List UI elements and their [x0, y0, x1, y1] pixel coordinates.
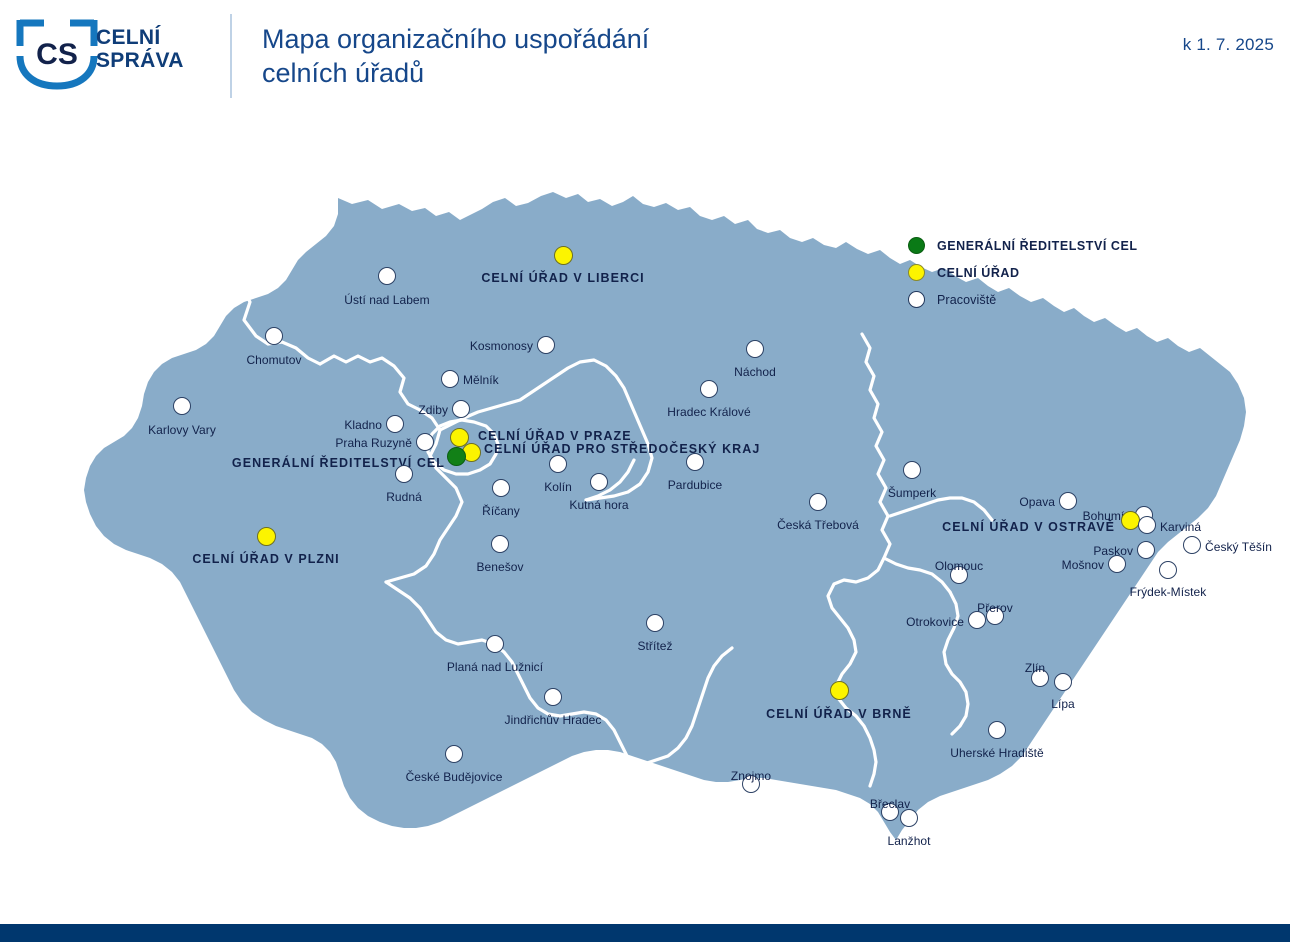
legend-item-celni-urad: CELNÍ ÚŘAD	[908, 259, 1208, 286]
map-label-mosnov: Mošnov	[1062, 559, 1104, 572]
map-marker-melnik[interactable]	[441, 370, 459, 388]
logo-wordmark: CELNÍ SPRÁVA	[96, 26, 184, 72]
map-marker-celni-urad-v-liberci[interactable]	[554, 246, 573, 265]
map-label-kosmonosy: Kosmonosy	[470, 340, 533, 353]
map-label-stritez: Střítež	[637, 640, 672, 653]
map-label-znojmo: Znojmo	[731, 770, 771, 783]
map-marker-stritez[interactable]	[646, 614, 664, 632]
header-date: k 1. 7. 2025	[1183, 35, 1274, 55]
map-marker-kosmonosy[interactable]	[537, 336, 555, 354]
map-label-plana-nad-luznici: Planá nad Lužnicí	[447, 661, 543, 674]
map-marker-sumperk[interactable]	[903, 461, 921, 479]
map-label-zdiby: Zdiby	[418, 404, 448, 417]
map-label-celni-urad-v-liberci: CELNÍ ÚŘAD V LIBERCI	[481, 272, 644, 285]
map-label-ceske-budejovice: České Budějovice	[406, 771, 503, 784]
map-marker-kladno[interactable]	[386, 415, 404, 433]
map-label-nachod: Náchod	[734, 366, 776, 379]
map-marker-ceske-budejovice[interactable]	[445, 745, 463, 763]
svg-text:CS: CS	[36, 38, 78, 71]
map-marker-paskov[interactable]	[1137, 541, 1155, 559]
map-marker-nachod[interactable]	[746, 340, 764, 358]
map-marker-uherske-hradiste[interactable]	[988, 721, 1006, 739]
map-label-lanzhot: Lanžhot	[887, 835, 930, 848]
footer-bar	[0, 924, 1290, 942]
map-marker-benesov[interactable]	[491, 535, 509, 553]
map-label-hradec-kralove: Hradec Králové	[667, 406, 750, 419]
map-label-praha-ruzyne: Praha Ruzyně	[335, 437, 412, 450]
green-dot-icon	[908, 237, 925, 254]
page-header: CS CELNÍ SPRÁVA Mapa organizačního uspoř…	[0, 0, 1290, 112]
map-marker-opava[interactable]	[1059, 492, 1077, 510]
map-label-ceska-trebova: Česká Třebová	[777, 519, 859, 532]
map-marker-usti-nad-labem[interactable]	[378, 267, 396, 285]
map-label-opava: Opava	[1019, 496, 1055, 509]
map-label-kutna-hora: Kutná hora	[569, 499, 628, 512]
map-marker-kolin[interactable]	[549, 455, 567, 473]
map-marker-otrokovice[interactable]	[968, 611, 986, 629]
map-marker-ceska-trebova[interactable]	[809, 493, 827, 511]
map-label-celni-urad-pro-stredocesky-kraj: CELNÍ ÚŘAD PRO STŘEDOČESKÝ KRAJ	[484, 443, 760, 456]
logo-wordmark-line2: SPRÁVA	[96, 49, 184, 72]
logo-wordmark-line1: CELNÍ	[96, 26, 184, 49]
map-marker-rudna[interactable]	[395, 465, 413, 483]
map-marker-jindrichuv-hradec[interactable]	[544, 688, 562, 706]
map-label-uherske-hradiste: Uherské Hradiště	[950, 747, 1044, 760]
map-label-celni-urad-v-brne: CELNÍ ÚŘAD V BRNĚ	[766, 708, 912, 721]
legend-item-gr: GENERÁLNÍ ŘEDITELSTVÍ CEL	[908, 232, 1208, 259]
map-label-chomutov: Chomutov	[246, 354, 301, 367]
map-label-benesov: Benešov	[476, 561, 523, 574]
map-label-otrokovice: Otrokovice	[906, 616, 964, 629]
map-label-celni-urad-v-ostrave: CELNÍ ÚŘAD V OSTRAVĚ	[942, 521, 1115, 534]
map-label-kladno: Kladno	[344, 419, 382, 432]
map-marker-praha-ruzyne[interactable]	[416, 433, 434, 451]
map-marker-celni-urad-v-ostrave[interactable]	[1121, 511, 1140, 530]
map-label-karlovy-vary: Karlovy Vary	[148, 424, 216, 437]
map-marker-ricany[interactable]	[492, 479, 510, 497]
white-dot-icon	[908, 291, 925, 308]
map-marker-pardubice[interactable]	[686, 453, 704, 471]
map-marker-karvina[interactable]	[1138, 516, 1156, 534]
map-marker-celni-urad-v-brne[interactable]	[830, 681, 849, 700]
map-label-generalni-reditelstvi-cel: GENERÁLNÍ ŘEDITELSTVÍ CEL	[232, 457, 445, 470]
map-label-jindrichuv-hradec: Jindřichův Hradec	[505, 714, 602, 727]
map-marker-generalni-reditelstvi-cel[interactable]	[447, 447, 466, 466]
legend-label-pracoviste: Pracoviště	[937, 293, 996, 307]
legend-label-gr: GENERÁLNÍ ŘEDITELSTVÍ CEL	[937, 239, 1138, 253]
map-marker-karlovy-vary[interactable]	[173, 397, 191, 415]
map-marker-zdiby[interactable]	[452, 400, 470, 418]
map-label-ricany: Říčany	[482, 505, 520, 518]
page-title: Mapa organizačního uspořádání celních úř…	[262, 22, 649, 90]
map-label-cesky-tesin: Český Těšín	[1205, 541, 1272, 554]
map-marker-lipa[interactable]	[1054, 673, 1072, 691]
legend-item-pracoviste: Pracoviště	[908, 286, 1208, 313]
map-label-olomouc: Olomouc	[935, 560, 983, 573]
map-marker-chomutov[interactable]	[265, 327, 283, 345]
yellow-dot-icon	[908, 264, 925, 281]
map-label-usti-nad-labem: Ústí nad Labem	[344, 294, 429, 307]
map-marker-plana-nad-luznici[interactable]	[486, 635, 504, 653]
map-label-karvina: Karviná	[1160, 521, 1201, 534]
map-marker-frydek-mistek[interactable]	[1159, 561, 1177, 579]
header-divider	[230, 14, 232, 98]
map-marker-mosnov[interactable]	[1108, 555, 1126, 573]
map-label-lipa: Lípa	[1051, 698, 1075, 711]
map-marker-lanzhot[interactable]	[900, 809, 918, 827]
map-marker-celni-urad-v-plzni[interactable]	[257, 527, 276, 546]
map-marker-cesky-tesin[interactable]	[1183, 536, 1201, 554]
map-label-pardubice: Pardubice	[668, 479, 723, 492]
map-legend: GENERÁLNÍ ŘEDITELSTVÍ CEL CELNÍ ÚŘAD Pra…	[908, 232, 1208, 313]
map-label-melnik: Mělník	[463, 374, 499, 387]
map-label-zlin: Zlín	[1025, 662, 1045, 675]
map-label-kolin: Kolín	[544, 481, 572, 494]
cs-shield-logo-icon: CS	[14, 16, 100, 90]
map-label-sumperk: Šumperk	[888, 487, 936, 500]
legend-label-celni-urad: CELNÍ ÚŘAD	[937, 266, 1020, 280]
map-label-rudna: Rudná	[386, 491, 422, 504]
map-marker-hradec-kralove[interactable]	[700, 380, 718, 398]
map-label-celni-urad-v-plzni: CELNÍ ÚŘAD V PLZNI	[192, 553, 339, 566]
map-marker-kutna-hora[interactable]	[590, 473, 608, 491]
map-container: Ústí nad LabemCELNÍ ÚŘAD V LIBERCIChomut…	[0, 112, 1290, 912]
map-label-frydek-mistek: Frýdek-Místek	[1130, 586, 1207, 599]
